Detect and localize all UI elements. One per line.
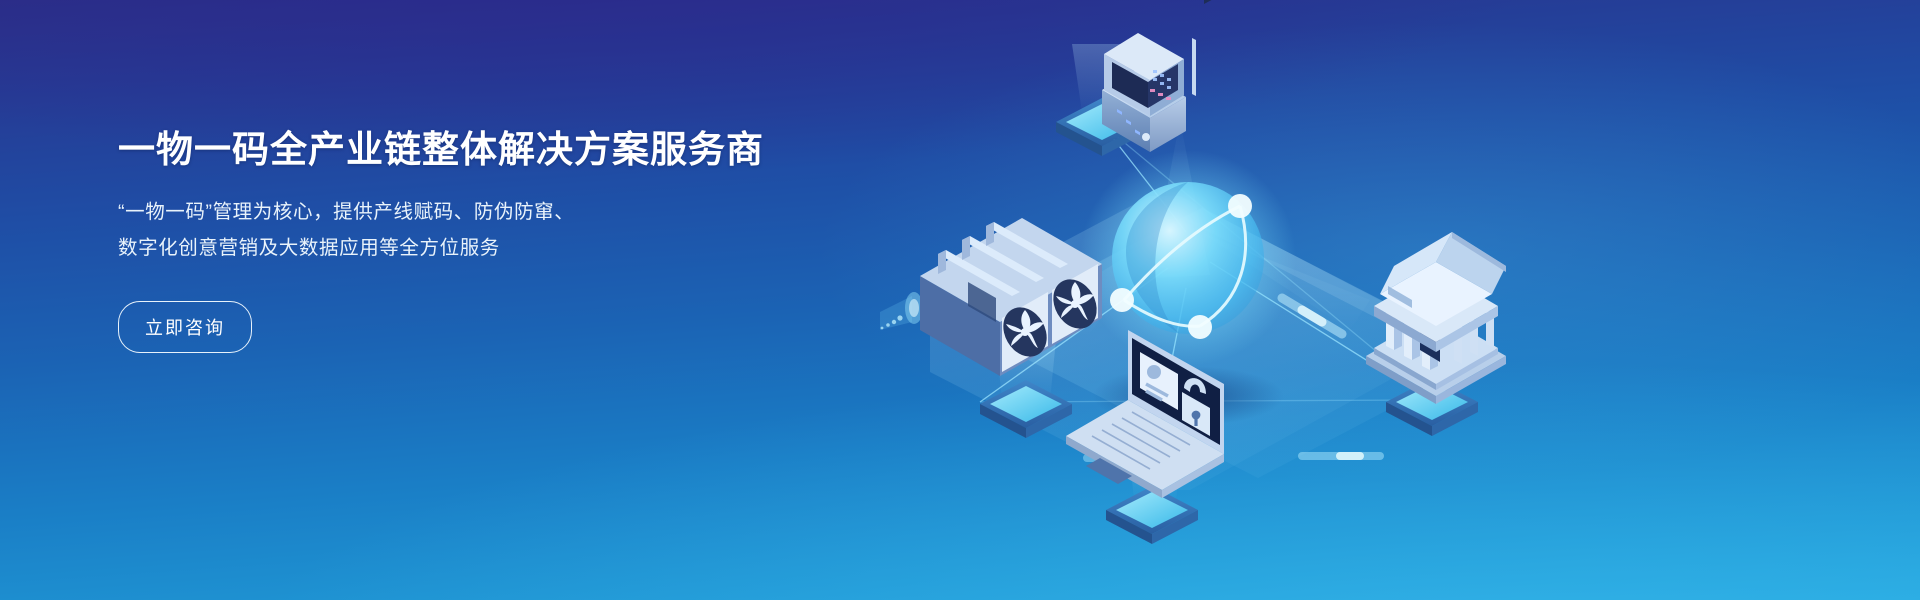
hero-subtitle: “一物一码”管理为核心，提供产线赋码、防伪防窜、 数字化创意营销及大数据应用等全… — [118, 172, 778, 266]
pedestal-laptop — [1106, 486, 1198, 544]
node-pos-terminal — [1056, 0, 1244, 156]
hero-copy: 一物一码全产业链整体解决方案服务商 “一物一码”管理为核心，提供产线赋码、防伪防… — [118, 128, 778, 353]
hero-banner: 一物一码全产业链整体解决方案服务商 “一物一码”管理为核心，提供产线赋码、防伪防… — [0, 0, 1920, 600]
cta-wrapper: 立即咨询 — [118, 267, 778, 353]
page-title: 一物一码全产业链整体解决方案服务商 — [118, 128, 778, 172]
isometric-network-illustration — [850, 0, 1920, 600]
node-server-rack — [880, 218, 1105, 438]
hero-subtitle-line-1: “一物一码”管理为核心，提供产线赋码、防伪防窜、 — [118, 194, 778, 230]
hero-subtitle-line-2: 数字化创意营销及大数据应用等全方位服务 — [118, 230, 778, 266]
consult-now-button[interactable]: 立即咨询 — [118, 301, 252, 353]
node-bank-building — [1366, 232, 1506, 436]
cash-register-icon — [1102, 0, 1244, 152]
scan-ray — [880, 292, 923, 330]
